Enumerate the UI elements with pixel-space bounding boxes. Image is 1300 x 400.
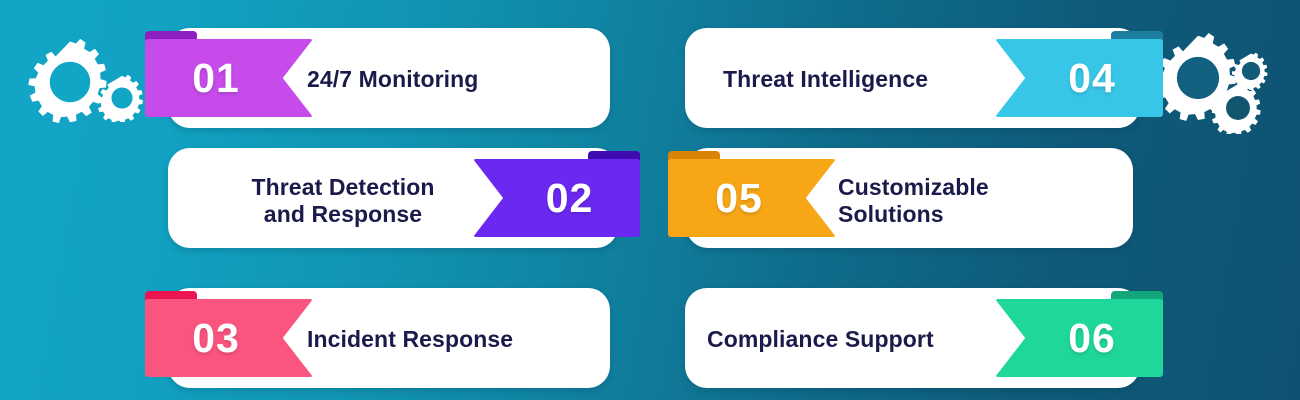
feature-item-04[interactable]: 04 Threat Intelligence [685,28,1163,128]
feature-label-line1: Threat Detection [218,174,468,201]
feature-label: 24/7 Monitoring [307,66,478,93]
feature-list: 01 24/7 Monitoring 02 Threat Detection a… [0,0,1300,400]
feature-item-05[interactable]: 05 Customizable Solutions [668,148,1133,248]
feature-number: 03 [192,318,240,359]
feature-label: Incident Response [307,326,513,353]
feature-label: Threat Detection and Response [218,174,468,227]
feature-number: 05 [715,178,763,219]
number-ribbon-03: 03 [145,299,313,377]
feature-item-06[interactable]: 06 Compliance Support [685,288,1163,388]
feature-number: 04 [1068,58,1116,99]
feature-label-line2: Solutions [838,201,989,228]
feature-number: 01 [192,58,240,99]
number-ribbon-05: 05 [668,159,836,237]
feature-item-02[interactable]: 02 Threat Detection and Response [168,148,640,248]
feature-label-line1: Customizable [838,174,989,201]
feature-label-line2: and Response [218,201,468,228]
number-ribbon-06: 06 [995,299,1163,377]
feature-item-01[interactable]: 01 24/7 Monitoring [145,28,610,128]
number-ribbon-04: 04 [995,39,1163,117]
feature-number: 02 [546,178,594,219]
number-ribbon-01: 01 [145,39,313,117]
feature-label: Compliance Support [707,326,934,353]
feature-label: Customizable Solutions [838,174,989,227]
feature-label: Threat Intelligence [723,66,928,93]
number-ribbon-02: 02 [473,159,640,237]
feature-number: 06 [1068,318,1116,359]
feature-item-03[interactable]: 03 Incident Response [145,288,610,388]
